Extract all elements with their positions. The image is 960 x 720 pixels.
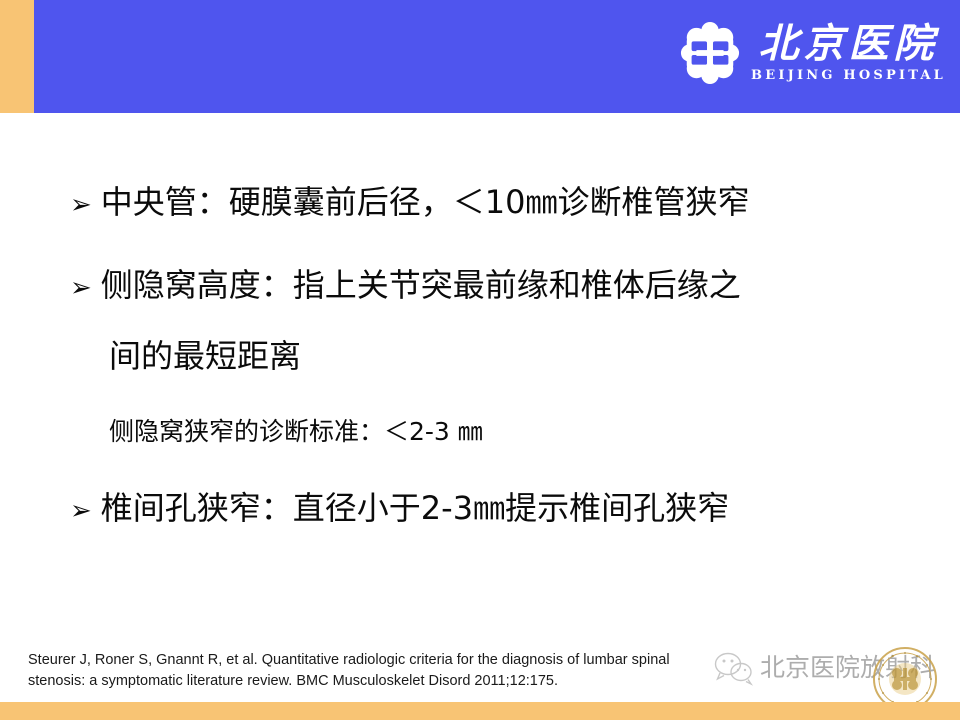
bullet-text-2: 侧隐窝高度：指上关节突最前缘和椎体后缘之 <box>101 269 741 301</box>
beijing-hospital-emblem-icon <box>679 22 741 84</box>
header-band: 北京医院 BEIJING HOSPITAL <box>34 0 960 113</box>
bullet-item-3: ➢ 椎间孔狭窄：直径小于2-3㎜提示椎间孔狭窄 <box>70 492 729 524</box>
bullet-text-2-continuation: 间的最短距离 <box>109 340 301 372</box>
citation-line-1: Steurer J, Roner S, Gnannt R, et al. Qua… <box>28 650 788 671</box>
wechat-bubble-icon <box>712 648 754 686</box>
footer-accent-stripe <box>0 702 960 720</box>
bullet-item-1: ➢ 中央管：硬膜囊前后径，＜10㎜诊断椎管狭窄 <box>70 186 750 218</box>
arrow-bullet-icon: ➢ <box>70 192 92 218</box>
logo-wordmark: 北京医院 BEIJING HOSPITAL <box>751 24 946 82</box>
bullet-item-2-continuation: 间的最短距离 <box>109 340 301 372</box>
header-left-accent-stripe <box>0 0 34 113</box>
logo-chinese-name: 北京医院 <box>759 24 939 64</box>
bullet-item-2-subnote: 侧隐窝狭窄的诊断标准：＜2-3 ㎜ <box>109 419 483 444</box>
arrow-bullet-icon: ➢ <box>70 498 92 524</box>
arrow-bullet-icon: ➢ <box>70 275 92 301</box>
bullet-text-3: 椎间孔狭窄：直径小于2-3㎜提示椎间孔狭窄 <box>101 492 729 524</box>
bullet-item-2: ➢ 侧隐窝高度：指上关节突最前缘和椎体后缘之 <box>70 269 741 301</box>
logo-english-name: BEIJING HOSPITAL <box>751 69 946 82</box>
slide-content: ➢ 中央管：硬膜囊前后径，＜10㎜诊断椎管狭窄 ➢ 侧隐窝高度：指上关节突最前缘… <box>0 113 960 633</box>
presentation-slide: 北京医院 BEIJING HOSPITAL ➢ 中央管：硬膜囊前后径，＜10㎜诊… <box>0 0 960 720</box>
bullet-text-1: 中央管：硬膜囊前后径，＜10㎜诊断椎管狭窄 <box>101 186 750 218</box>
citation-reference: Steurer J, Roner S, Gnannt R, et al. Qua… <box>28 650 788 692</box>
bullet-subnote-text: 侧隐窝狭窄的诊断标准：＜2-3 ㎜ <box>109 419 483 444</box>
citation-line-2: stenosis: a symptomatic literature revie… <box>28 671 788 692</box>
hospital-logo: 北京医院 BEIJING HOSPITAL <box>679 22 946 84</box>
